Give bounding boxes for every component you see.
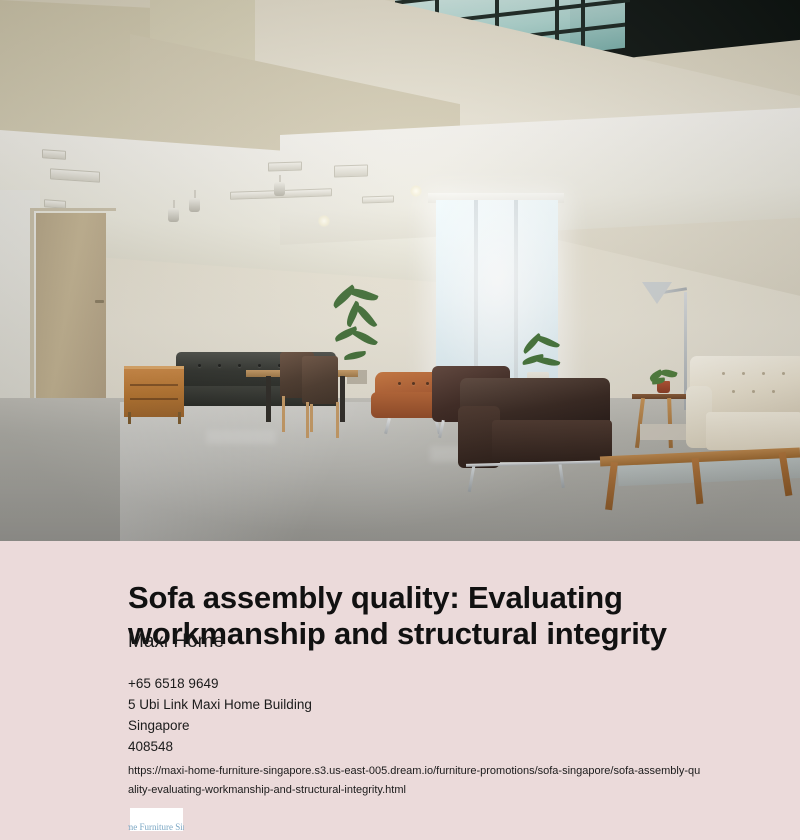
cabinet-drawer-line-2 — [130, 398, 178, 400]
contact-postal-code: 408548 — [128, 736, 748, 757]
track-light-glow-1 — [318, 215, 330, 227]
dark-leather-sofa-seat — [492, 420, 612, 462]
ceiling-vent-1 — [42, 149, 66, 160]
track-light-head-2 — [168, 208, 179, 222]
floor-lamp-shade — [642, 282, 672, 304]
tuft-button — [412, 382, 415, 385]
tuft-button — [762, 372, 765, 375]
tuft-button — [426, 382, 429, 385]
article-url[interactable]: https://maxi-home-furniture-singapore.s3… — [128, 762, 704, 800]
dining-chair-leg-1 — [282, 396, 285, 432]
dining-table-leg-2 — [340, 376, 345, 422]
contact-address: 5 Ubi Link Maxi Home Building — [128, 694, 748, 715]
track-light-head-3 — [274, 182, 285, 196]
tuft-button — [772, 390, 775, 393]
hero-image — [0, 0, 800, 541]
tuft-button — [238, 364, 241, 367]
showroom-door — [36, 213, 106, 418]
window-mullion-2 — [514, 200, 518, 395]
dining-chair-leg-4 — [336, 402, 339, 438]
contact-block: +65 6518 9649 5 Ubi Link Maxi Home Build… — [128, 673, 748, 800]
contact-country: Singapore — [128, 715, 748, 736]
ceiling-vent-4 — [334, 164, 368, 177]
tuft-button — [752, 390, 755, 393]
tuft-button — [732, 390, 735, 393]
dining-table-leg-1 — [266, 376, 271, 422]
cream-sofa-seat — [706, 412, 800, 450]
brand-name: Maxi Home — [128, 630, 224, 654]
contact-phone[interactable]: +65 6518 9649 — [128, 673, 748, 694]
dining-chair-leg-3 — [306, 402, 309, 438]
tuft-button — [398, 382, 401, 385]
track-light-glow-2 — [410, 185, 422, 197]
cabinet-drawer-line-1 — [130, 384, 178, 386]
showroom-photo — [0, 0, 800, 541]
tuft-button — [722, 372, 725, 375]
tuft-button — [218, 364, 221, 367]
cabinet-leg-2 — [178, 412, 181, 424]
ceiling-vent-3 — [268, 161, 302, 171]
footer-brand-label: Maxi Home Furniture Singapore — [128, 820, 184, 834]
tuft-button — [742, 372, 745, 375]
tuft-button — [198, 364, 201, 367]
wood-cabinet — [124, 366, 184, 417]
tuft-button — [782, 372, 785, 375]
door-handle — [95, 300, 104, 303]
page-root: Sofa assembly quality: Evaluating workma… — [0, 0, 800, 840]
cabinet-leg-1 — [128, 412, 131, 424]
dining-chair-2 — [302, 356, 338, 404]
floor-reflection-1 — [206, 430, 276, 444]
content-panel: Sofa assembly quality: Evaluating workma… — [0, 541, 800, 840]
tuft-button — [258, 364, 261, 367]
ceiling-vent-6 — [362, 195, 394, 203]
track-light-head-1 — [189, 198, 200, 212]
